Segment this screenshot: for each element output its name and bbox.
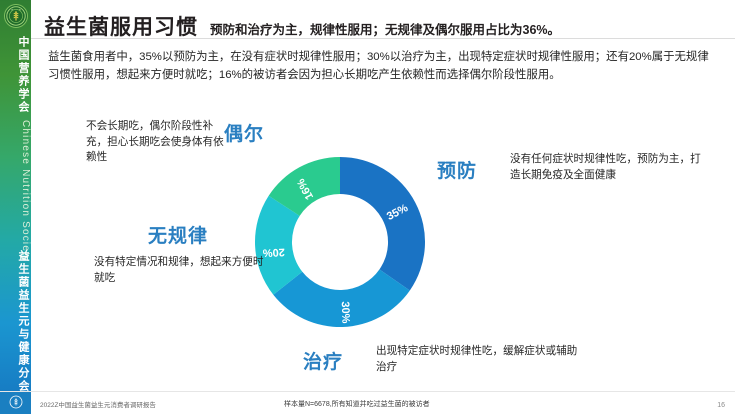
rail-org-name-cn: 中国营养学会 xyxy=(0,36,31,114)
category-label-occasional: 偶尔 xyxy=(224,119,264,146)
footer-sample-note: 样本量N=6678,所有知道并吃过益生菌的被访者 xyxy=(284,399,430,409)
wheat-emblem-icon xyxy=(4,4,28,28)
footer-logo-badge xyxy=(0,392,31,414)
category-desc-irregular: 没有特定情况和规律，想起来方便时就吃 xyxy=(94,255,274,286)
category-desc-treatment: 出现特定症状时规律性吃，缓解症状或辅助治疗 xyxy=(376,344,586,375)
category-label-irregular: 无规律 xyxy=(148,221,208,248)
donut-value-treatment: 30% xyxy=(339,301,352,324)
category-desc-prevention: 没有任何症状时规律性吃，预防为主，打造长期免疫及全面健康 xyxy=(510,152,710,183)
category-desc-occasional: 不会长期吃，偶尔阶段性补充，担心长期吃会使身体有依赖性 xyxy=(86,119,228,166)
slide-header: 益生菌服用习惯 预防和治疗为主，规律性服用；无规律及偶尔服用占比为36%。 xyxy=(44,11,724,41)
footer-source: 2022Z中国益生菌益生元消费者调研报告 xyxy=(40,399,156,409)
rail-branch-name: 益生菌益生元与健康分会 xyxy=(0,250,31,393)
donut-chart: 35% 30% 20% 16% xyxy=(255,157,425,327)
category-label-prevention: 预防 xyxy=(437,156,477,183)
slide-canvas: 中国营养学会 Chinese Nutrition Society 益生菌益生元与… xyxy=(0,0,735,414)
donut-slice-prevention[interactable] xyxy=(340,157,425,290)
page-subtitle: 预防和治疗为主，规律性服用；无规律及偶尔服用占比为36%。 xyxy=(210,19,560,38)
header-divider xyxy=(31,38,735,39)
slide-footer: 2022Z中国益生菌益生元消费者调研报告 样本量N=6678,所有知道并吃过益生… xyxy=(0,391,735,414)
rail-org-name-en: Chinese Nutrition Society xyxy=(0,120,31,262)
category-label-treatment: 治疗 xyxy=(303,347,343,374)
intro-paragraph: 益生菌食用者中，35%以预防为主，在没有症状时规律性服用；30%以治疗为主，出现… xyxy=(48,48,716,84)
footer-page-number: 16 xyxy=(717,402,725,409)
brand-rail: 中国营养学会 Chinese Nutrition Society 益生菌益生元与… xyxy=(0,0,31,414)
page-title: 益生菌服用习惯 xyxy=(44,11,198,41)
